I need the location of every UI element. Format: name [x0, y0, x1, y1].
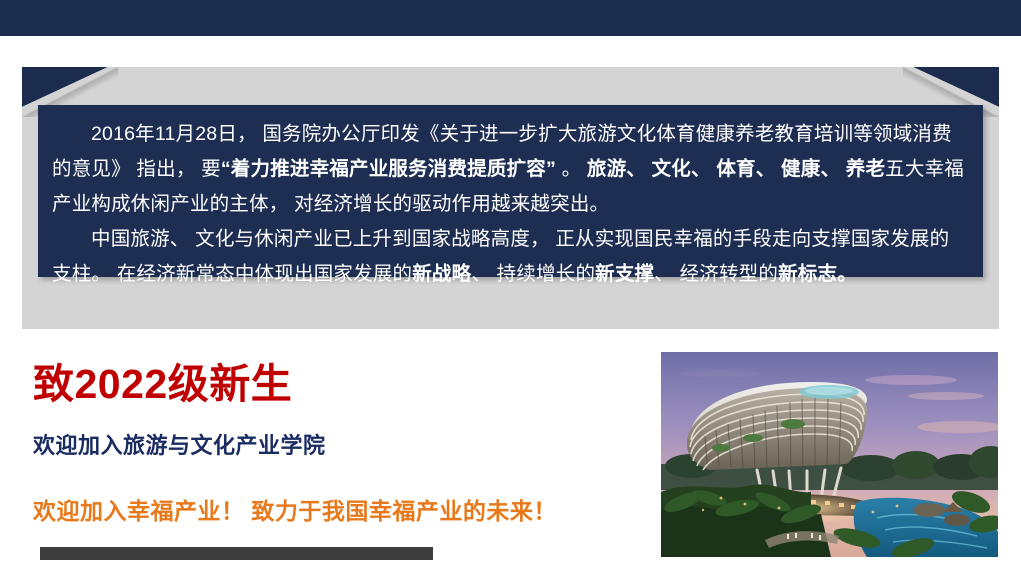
corner-triangle-top-right-icon — [913, 67, 999, 107]
top-banner — [0, 0, 1021, 36]
quote-paragraph-2: 中国旅游、 文化与休闲产业已上升到国家战略高度， 正从实现国民幸福的手段走向支撑… — [52, 222, 969, 292]
bottom-rule — [40, 547, 433, 560]
headline-join-happiness-industry: 欢迎加入幸福产业！ 致力于我国幸福产业的未来！ — [33, 492, 557, 526]
headline-join-college: 欢迎加入旅游与文化产业学院 — [33, 428, 326, 460]
quote-panel: 2016年11月28日， 国务院办公厅印发《关于进一步扩大旅游文化体育健康养老教… — [38, 105, 983, 277]
quote-paragraph-1: 2016年11月28日， 国务院办公厅印发《关于进一步扩大旅游文化体育健康养老教… — [52, 117, 969, 222]
headline-welcome-class-of-2022: 致2022级新生 — [33, 350, 292, 410]
resort-hotel-photo — [661, 352, 998, 557]
quote-card: 2016年11月28日， 国务院办公厅印发《关于进一步扩大旅游文化体育健康养老教… — [22, 67, 999, 329]
corner-triangle-top-left-icon — [22, 67, 108, 107]
